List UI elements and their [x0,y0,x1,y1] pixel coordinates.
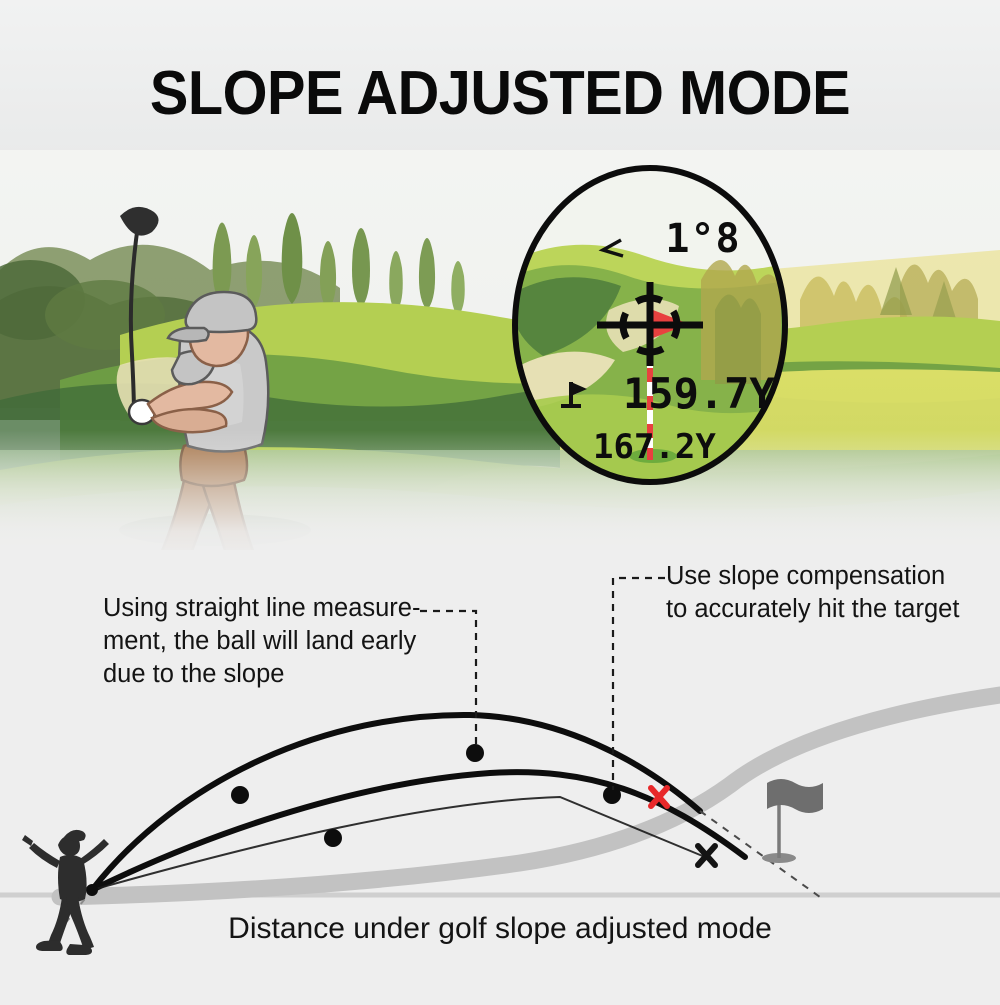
annotation-straight-line: Using straight line measure- ment, the b… [103,592,503,691]
tee-point [86,884,98,896]
trajectory-dot-lower-1 [324,829,342,847]
page-root: SLOPE ADJUSTED MODE [0,0,1000,1000]
golf-course-photo [0,150,1000,550]
target-flag [762,779,823,863]
dashed-rollout-line [700,811,820,897]
trajectory-dot-upper-1 [231,786,249,804]
rangefinder-viewfinder: 1°8 159.7Y 167.2Y [505,160,795,490]
trajectory-dot-upper-apex [466,744,484,762]
annotation-slope-compensation: Use slope compensation to accurately hit… [666,560,986,626]
diagram-caption: Distance under golf slope adjusted mode [0,912,1000,946]
scope-distance-primary: 159.7Y [623,369,775,418]
flag-banner [767,779,823,813]
page-title: SLOPE ADJUSTED MODE [35,58,965,129]
trajectory-dot-lower-apex [603,786,621,804]
scope-distance-slope: 167.2Y [593,427,716,467]
scope-angle-value: 1°8 [665,216,740,262]
